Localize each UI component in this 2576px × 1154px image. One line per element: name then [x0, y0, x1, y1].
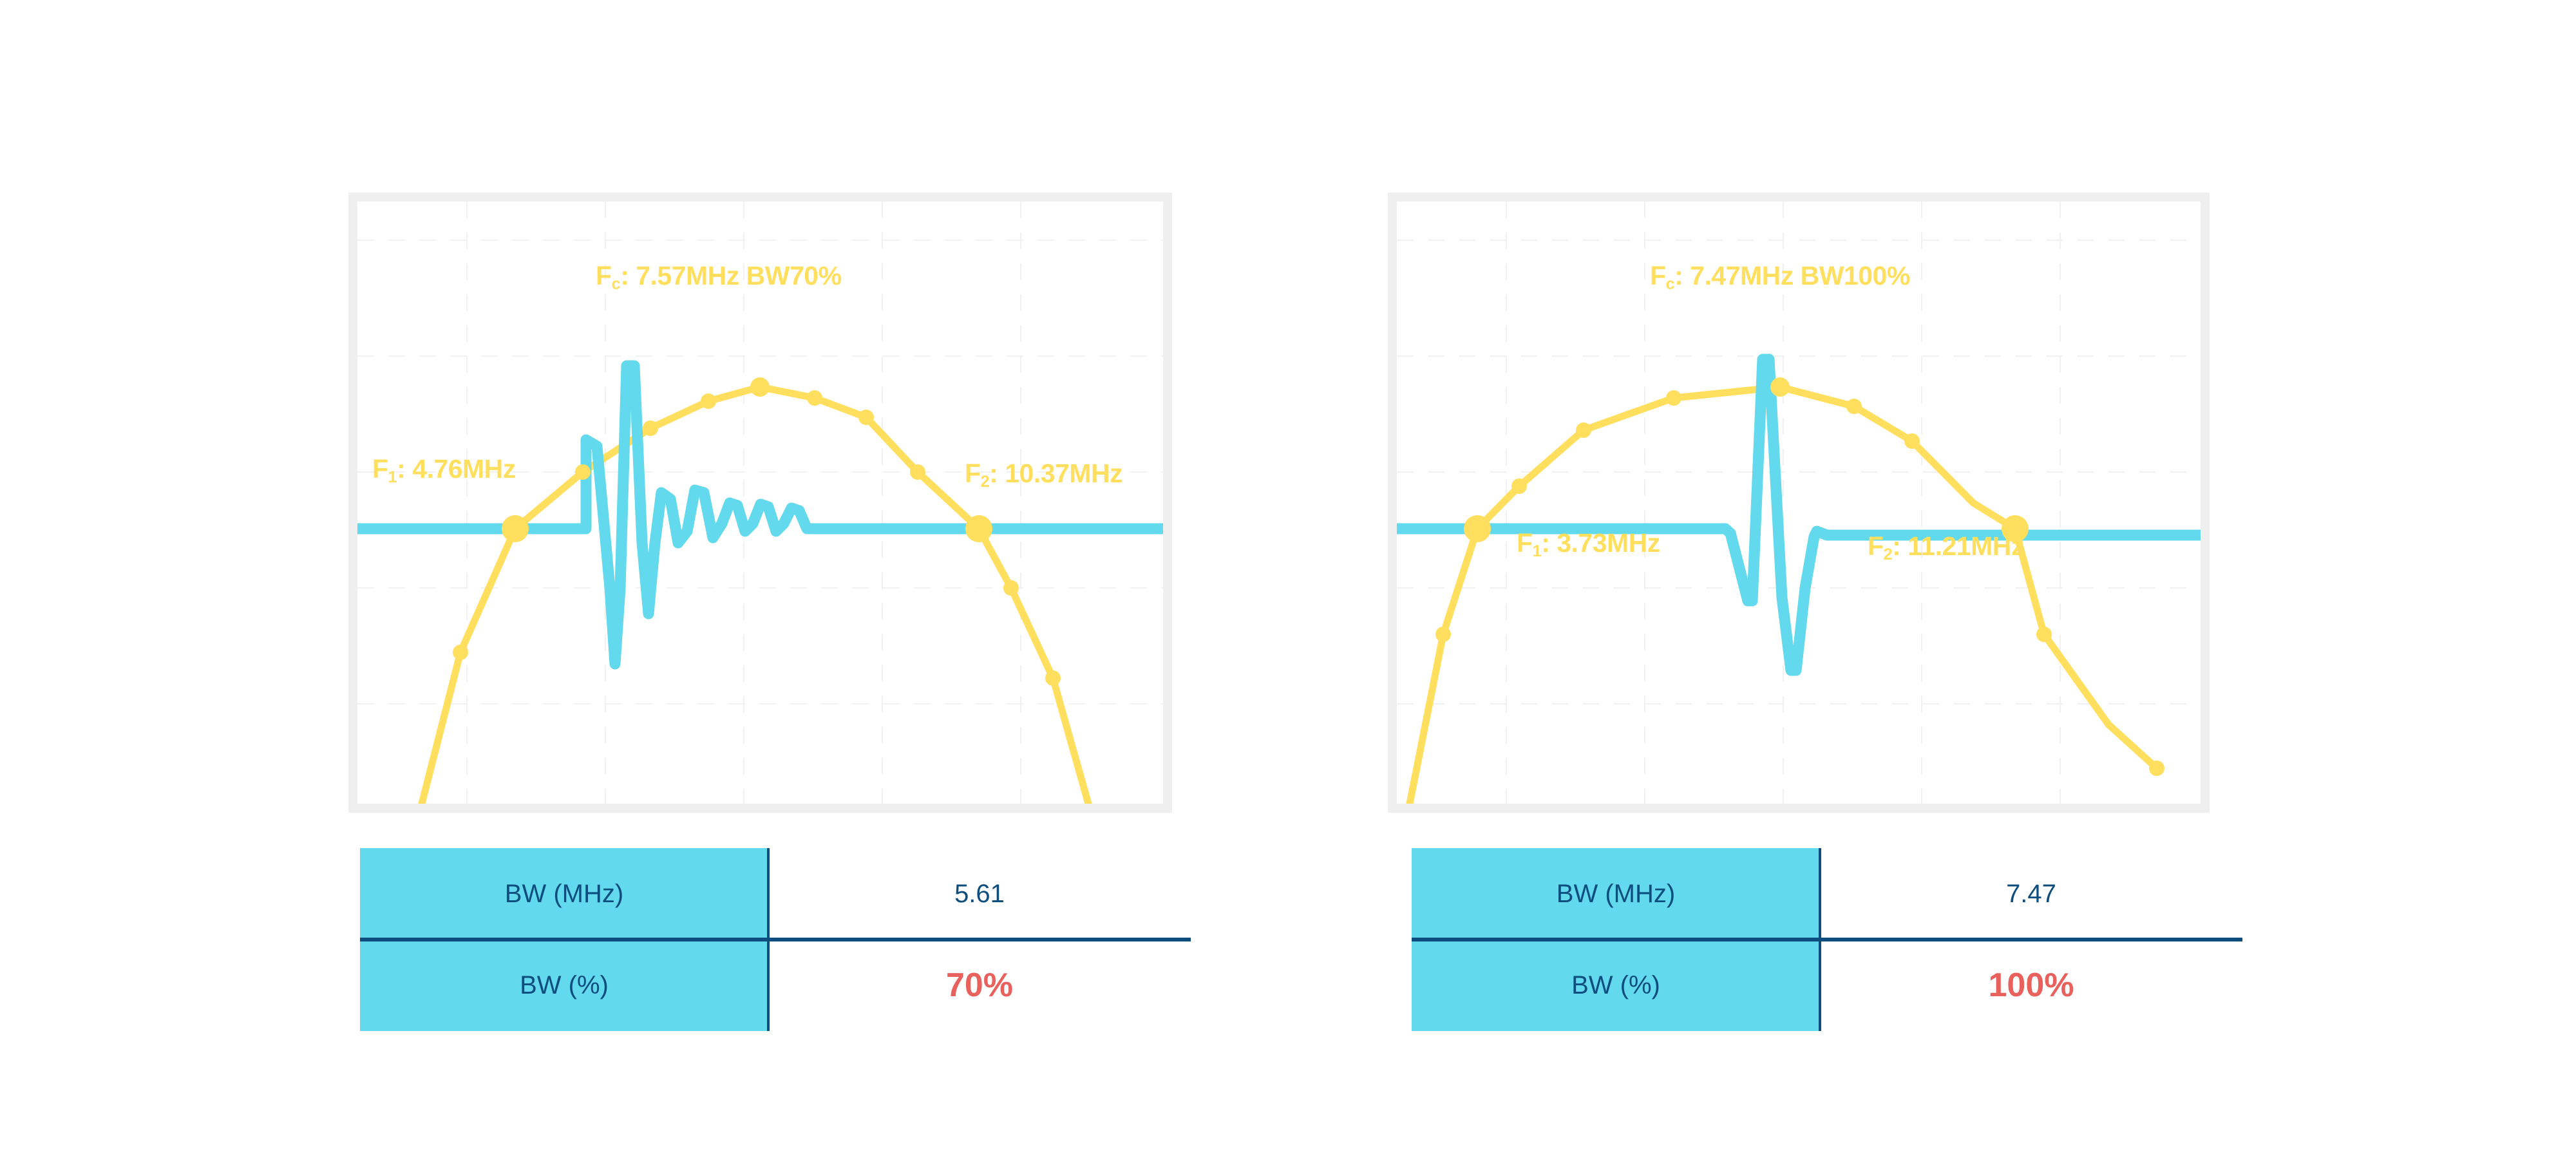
data-point: [453, 645, 468, 660]
data-point: [1003, 580, 1019, 596]
data-point: [858, 410, 874, 425]
label-f1-bw70: F1: 4.76MHz: [372, 454, 516, 484]
table-row-divider: [360, 938, 1191, 941]
table-cell-key: BW (%): [360, 940, 768, 1031]
table-row: BW (MHz) 7.47: [1412, 848, 2242, 940]
marker-f1-dot: [1464, 515, 1491, 542]
table-column-divider: [1819, 848, 1821, 1031]
label-f2-bw70: F2: 10.37MHz: [965, 459, 1122, 489]
table-cell-key: BW (%): [1412, 940, 1820, 1031]
label-f2-bw100: F2: 11.21MHz: [1868, 531, 2024, 562]
panel-bw70: Fc: 7.57MHz BW70% F1: 4.76MHz F2: 10.37M…: [0, 0, 1288, 1154]
spectrum-curve-bw70: [422, 387, 1088, 804]
data-point: [1045, 670, 1061, 686]
data-point: [575, 464, 591, 480]
spectrum-markers-bw100: [1435, 377, 2164, 776]
gridlines-bw100: [1397, 202, 2201, 804]
data-point: [643, 421, 658, 436]
data-point: [2149, 761, 2164, 776]
data-point: [701, 393, 716, 409]
label-fc-bw70: Fc: 7.57MHz BW70%: [596, 261, 842, 291]
marker-f2-dot: [965, 515, 992, 542]
label-fc-bw100: Fc: 7.47MHz BW100%: [1650, 261, 1910, 291]
table-column-divider: [767, 848, 770, 1031]
table-cell-key: BW (MHz): [360, 848, 768, 940]
panel-bw100: Fc: 7.47MHz BW100% F1: 3.73MHz F2: 11.21…: [1288, 0, 2576, 1154]
data-point: [1511, 478, 1527, 494]
marker-f1-dot: [502, 515, 529, 542]
marker-fc-dot: [750, 377, 770, 397]
table-cell-value-accent: 100%: [1820, 940, 2242, 1031]
bw-table-bw70: BW (MHz) 5.61 BW (%) 70%: [360, 848, 1191, 1031]
data-point: [1435, 627, 1451, 642]
table-row-divider: [1412, 938, 2242, 941]
label-f1-bw100: F1: 3.73MHz: [1517, 528, 1660, 558]
table-cell-value: 5.61: [768, 848, 1191, 940]
table-cell-value: 7.47: [1820, 848, 2242, 940]
table-row: BW (%) 70%: [360, 940, 1191, 1031]
data-point: [1666, 390, 1681, 406]
spectrum-plot-bw100: [1397, 202, 2201, 804]
marker-fc-dot: [1770, 377, 1790, 397]
data-point: [1576, 422, 1591, 438]
bw-table-bw100: BW (MHz) 7.47 BW (%) 100%: [1412, 848, 2242, 1031]
data-point: [807, 390, 822, 406]
table-row: BW (%) 100%: [1412, 940, 2242, 1031]
data-point: [1904, 433, 1920, 449]
table-row: BW (MHz) 5.61: [360, 848, 1191, 940]
table-cell-value-accent: 70%: [768, 940, 1191, 1031]
data-point: [910, 464, 925, 480]
data-point: [1846, 399, 1862, 414]
data-point: [2036, 627, 2052, 642]
table-cell-key: BW (MHz): [1412, 848, 1820, 940]
spectrum-plot-bw70: [357, 202, 1163, 804]
waveform-curve-bw100: [1397, 359, 2201, 670]
figure-root: Fc: 7.57MHz BW70% F1: 4.76MHz F2: 10.37M…: [0, 0, 2576, 1154]
